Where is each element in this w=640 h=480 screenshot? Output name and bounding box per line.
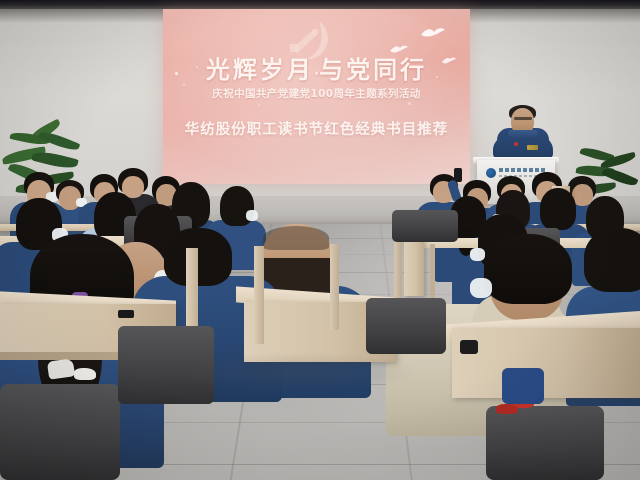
phone-on-desk	[118, 310, 134, 318]
speaker-glasses	[514, 117, 532, 120]
photo-scene: 光辉岁月·与党同行 庆祝中国共产党建党100周年主题系列活动 华纺股份职工读书节…	[0, 0, 640, 480]
bag-under-desk	[460, 340, 478, 354]
ceiling-band	[0, 0, 640, 9]
speaker-collar	[508, 130, 538, 138]
desk-divider-tall	[330, 244, 339, 330]
chair-front-right	[486, 406, 604, 480]
white-shoe	[74, 368, 96, 380]
floor-shadow	[180, 352, 420, 392]
seated-legs-denim	[502, 368, 544, 404]
screen-sheen	[163, 9, 470, 184]
chair-mid-right	[366, 298, 446, 354]
desk-divider-tall	[254, 246, 264, 344]
desk-leg	[430, 244, 435, 298]
chair-back	[392, 210, 458, 242]
podium-company-name	[499, 168, 547, 172]
speaker-lapel-pin	[514, 142, 518, 146]
company-circular-logo-icon	[486, 168, 496, 178]
desk-divider	[404, 238, 424, 296]
chair-front-left	[0, 384, 120, 480]
desk-front-right-panel	[452, 328, 640, 398]
red-shoe	[496, 404, 518, 414]
white-bag-on-floor	[47, 358, 75, 379]
speaker-chest-badge	[527, 145, 538, 150]
